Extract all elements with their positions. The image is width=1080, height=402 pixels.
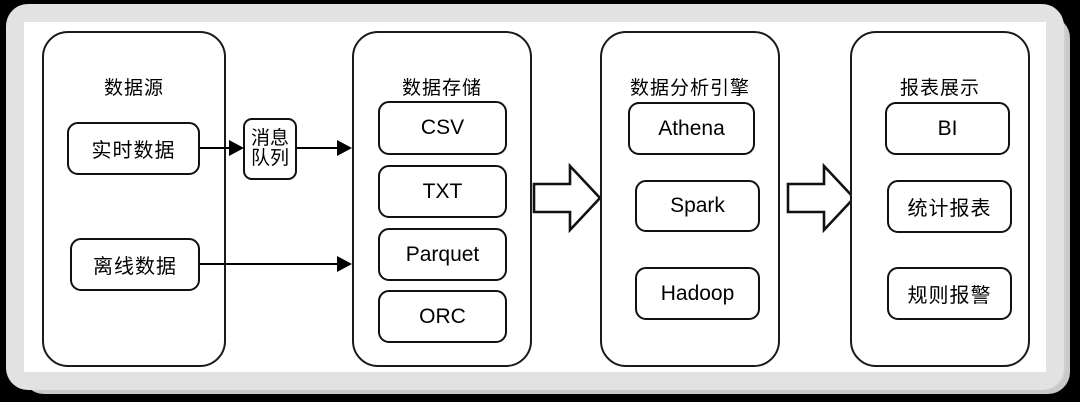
group-analysis-engine-title: 数据分析引擎 [602, 73, 778, 100]
block-arrow-analysis-to-report [786, 162, 856, 234]
box-stat-report[interactable]: 统计报表 [887, 180, 1012, 233]
diagram-canvas-root: 数据源 实时数据 离线数据 消息 队列 数据存储 CSV TXT Parquet… [0, 0, 1080, 402]
box-csv[interactable]: CSV [378, 101, 507, 155]
box-orc[interactable]: ORC [378, 290, 507, 343]
box-offline-data[interactable]: 离线数据 [70, 238, 200, 291]
diagram-white-canvas: 数据源 实时数据 离线数据 消息 队列 数据存储 CSV TXT Parquet… [24, 22, 1046, 372]
group-data-source[interactable]: 数据源 [42, 31, 226, 367]
box-txt[interactable]: TXT [378, 165, 507, 218]
box-rule-alert[interactable]: 规则报警 [887, 267, 1012, 320]
box-parquet[interactable]: Parquet [378, 228, 507, 281]
box-realtime-data[interactable]: 实时数据 [67, 122, 200, 175]
group-data-storage-title: 数据存储 [354, 73, 530, 100]
box-athena[interactable]: Athena [628, 102, 755, 155]
box-bi[interactable]: BI [885, 102, 1010, 155]
box-hadoop[interactable]: Hadoop [635, 267, 760, 320]
arrowhead-realtime-to-mq [229, 140, 244, 156]
group-report-display-title: 报表展示 [852, 73, 1028, 100]
message-queue-label-line1: 消息 [251, 129, 289, 149]
connector-offline-to-storage [200, 263, 347, 265]
box-message-queue[interactable]: 消息 队列 [243, 118, 297, 180]
box-spark[interactable]: Spark [635, 180, 760, 232]
message-queue-label-line2: 队列 [251, 149, 289, 169]
arrowhead-mq-to-storage [337, 140, 352, 156]
group-data-source-title: 数据源 [44, 73, 224, 100]
block-arrow-storage-to-analysis [532, 162, 602, 234]
arrowhead-offline-to-storage [337, 256, 352, 272]
